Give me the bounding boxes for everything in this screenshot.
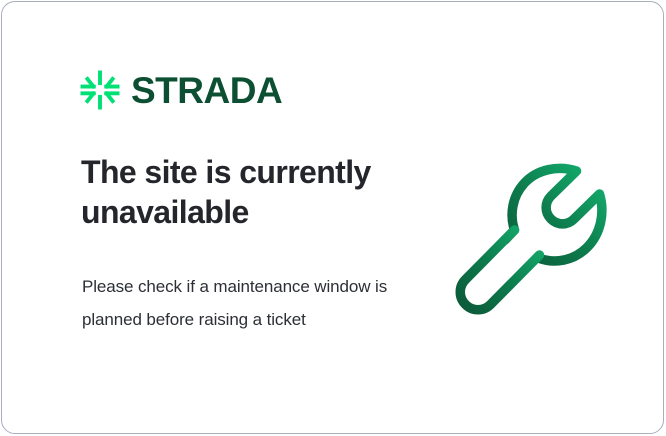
error-page: STRADA The site is currently unavailable… [0,0,666,436]
brand-logo: STRADA [80,70,282,110]
brand-wordmark: STRADA [131,72,282,109]
starburst-asterisk-icon [80,70,120,110]
wrench-icon [454,154,614,316]
page-description: Please check if a maintenance window is … [82,270,392,336]
status-card: STRADA The site is currently unavailable… [1,1,664,434]
status-card-body: STRADA The site is currently unavailable… [2,2,663,433]
page-title: The site is currently unavailable [81,152,411,232]
